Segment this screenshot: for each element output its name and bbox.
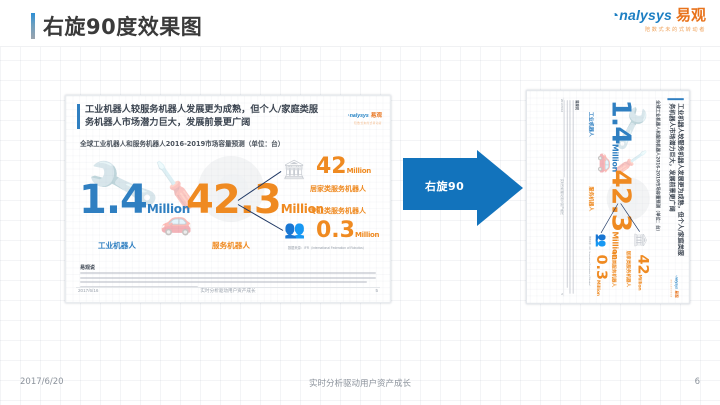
stat-label-service: 服务机器人	[212, 240, 250, 251]
page-title-text: 右旋90度效果图	[43, 11, 202, 41]
rotated-infographic: 🔧 🪛 🚗 1.4Million 工业机器人 42.3Million 服务机器人…	[582, 91, 655, 303]
stat-label-home: 居家类服务机器人	[310, 184, 366, 194]
document-footer-page: 5	[375, 288, 378, 293]
arrow-label: 右旋90	[425, 178, 464, 194]
note-line	[80, 272, 376, 274]
document-footer-date: 2017/6/16	[78, 288, 98, 293]
stat-label-industrial: 工业机器人	[98, 240, 136, 251]
rotated-stat-unit-industrial: Million	[611, 144, 620, 172]
rotated-stat-label-professional: 专业类服务机器人	[611, 251, 618, 288]
slide-footer-date: 2017/6/20	[20, 377, 64, 387]
rotated-document-content: 工业机器人较服务机器人发展更为成熟，但个人/家庭类服务机器人市场潜力巨大，发展前…	[554, 91, 689, 303]
rotated-document-footer-divider	[563, 98, 564, 297]
document-subtitle: 全球工业机器人和服务机器人2016-2019市场容量预测（单位：台）	[80, 138, 284, 148]
rotated-document-brand-logo: ◔nalysys易观 陪数式未的式转动者	[670, 275, 683, 298]
document-page: 工业机器人较服务机器人发展更为成熟，但个人/家庭类服务机器人市场潜力巨大，发展前…	[66, 96, 390, 302]
rotated-stat-unit-professional: Million	[595, 280, 600, 296]
document-brand-logo: ◔nalysys易观 陪数式未的式转动者	[347, 105, 382, 126]
brand-tagline: 陪数式未的式转动者	[611, 28, 706, 33]
rotated-stat-number-professional: 0.3	[593, 255, 609, 280]
stat-label-professional: 专业类服务机器人	[310, 206, 366, 216]
data-source-note: 数据来源：IFR（International Federation of Rob…	[288, 245, 366, 250]
note-line	[80, 281, 367, 283]
note-line	[80, 277, 376, 279]
rotated-document-thumbnail[interactable]: 工业机器人较服务机器人发展更为成熟，但个人/家庭类服务机器人市场潜力巨大，发展前…	[526, 90, 690, 304]
rotated-document-footer: 2017/6/16 实时分析驱动用户资产成长 5	[557, 91, 564, 303]
document-brand-name: nalysys	[350, 113, 369, 119]
header-divider	[0, 46, 720, 47]
brand-logo-row: ◔nalysys易观	[611, 8, 706, 24]
rotation-container: 工业机器人较服务机器人发展更为成熟，但个人/家庭类服务机器人市场潜力巨大，发展前…	[527, 91, 689, 303]
document-footer-center: 实时分析驱动用户资产成长	[200, 288, 255, 294]
stat-value-home: 42Million	[316, 156, 371, 178]
bank-building-icon: 🏛	[282, 158, 306, 182]
document-footer: 2017/6/16 实时分析驱动用户资产成长 5	[66, 288, 390, 298]
brand-logo-mark: ◔	[611, 7, 620, 23]
stat-number-service: 42.3	[186, 177, 281, 223]
brand-logo-name-cn: 易观	[676, 6, 706, 24]
document-headline: 工业机器人较服务机器人发展更为成熟，但个人/家庭类服务机器人市场潜力巨大，发展前…	[77, 104, 327, 129]
rotated-document-footer-page: 5	[560, 293, 563, 295]
rotated-stat-value-professional: 0.3Million	[594, 255, 608, 296]
rotated-stat-unit-home: Million	[637, 275, 642, 291]
title-accent-bar	[31, 13, 35, 39]
rotated-data-source-note: 数据来源：IFR（International Federation of Rob…	[588, 236, 591, 287]
infographic: 🔧 🪛 🚗 1.4Million 工业机器人 42.3Million 服务机器人…	[66, 148, 390, 260]
stat-number-professional: 0.3	[316, 218, 355, 243]
rotated-document-footer-center: 实时分析驱动用户资产成长	[560, 179, 564, 215]
rotated-brand-tagline: 陪数式未的式转动者	[670, 275, 672, 298]
rotated-stat-value-home: 42Million	[635, 255, 649, 291]
rotated-stat-number-service: 42.3	[606, 169, 636, 231]
note-title: 易观说	[80, 264, 95, 271]
rotated-brand-name-cn: 易观	[674, 290, 678, 297]
rotated-bank-building-icon: 🏛	[633, 232, 649, 248]
rotated-document-headline: 工业机器人较服务机器人发展更为成熟，但个人/家庭类服务机器人市场潜力巨大，发展前…	[667, 98, 683, 262]
rotated-stat-number-home: 42	[635, 255, 651, 275]
rotated-stat-label-service: 服务机器人	[588, 186, 595, 211]
stat-unit-home: Million	[347, 167, 371, 175]
rotated-document-footer-date: 2017/6/16	[560, 99, 563, 112]
slide-footer-page-number: 6	[695, 377, 700, 387]
slide-header: 右旋90度效果图 ◔nalysys易观 陪数式未的式转动者	[0, 0, 720, 47]
rotated-people-group-icon: 👥	[595, 234, 608, 248]
page-title: 右旋90度效果图	[31, 11, 202, 41]
rotated-document-page: 工业机器人较服务机器人发展更为成熟，但个人/家庭类服务机器人市场潜力巨大，发展前…	[527, 91, 689, 303]
rotate-right-arrow[interactable]: 右旋90	[403, 150, 523, 226]
slide-footer-center: 实时分析驱动用户资产成长	[309, 377, 411, 389]
document-brand-tagline: 陪数式未的式转动者	[347, 123, 382, 126]
slide-footer: 2017/6/20 实时分析驱动用户资产成长 6	[0, 377, 720, 391]
rotated-note-title: 易观说	[575, 100, 580, 110]
rotated-note-line	[570, 100, 571, 294]
rotated-headline-text: 工业机器人较服务机器人发展更为成熟，但个人/家庭类服务机器人市场潜力巨大，发展前…	[667, 103, 683, 261]
rotated-stat-label-home: 居家类服务机器人	[625, 251, 632, 288]
brand-logo: ◔nalysys易观 陪数式未的式转动者	[611, 8, 706, 33]
rotated-brand-name: nalysys	[674, 277, 678, 289]
brand-logo-name: nalysys	[619, 7, 672, 23]
document-brand-name-cn: 易观	[371, 113, 382, 119]
rotated-note-line	[573, 100, 574, 294]
stat-number-industrial: 1.4	[79, 177, 147, 223]
rotated-document-subtitle: 全球工业机器人和服务机器人2016-2019市场容量预测（单位：台）	[655, 100, 662, 234]
rotated-stat-label-industrial: 工业机器人	[588, 112, 595, 137]
rotated-stat-value-industrial: 1.4Million	[608, 100, 634, 173]
stat-unit-professional: Million	[355, 231, 379, 239]
headline-text: 工业机器人较服务机器人发展更为成熟，但个人/家庭类服务机器人市场潜力巨大，发展前…	[85, 104, 327, 129]
stat-value-professional: 0.3Million	[316, 220, 379, 242]
stat-value-industrial: 1.4Million	[79, 180, 190, 220]
people-group-icon: 👥	[284, 220, 305, 240]
headline-accent-bar	[77, 104, 80, 129]
stat-unit-industrial: Million	[147, 202, 190, 216]
rotated-note-line	[567, 100, 568, 288]
rotated-headline-accent-bar	[667, 98, 683, 100]
stat-number-home: 42	[316, 154, 347, 179]
source-document-thumbnail[interactable]: 工业机器人较服务机器人发展更为成熟，但个人/家庭类服务机器人市场潜力巨大，发展前…	[65, 95, 391, 303]
rotated-stat-number-industrial: 1.4	[606, 100, 636, 144]
